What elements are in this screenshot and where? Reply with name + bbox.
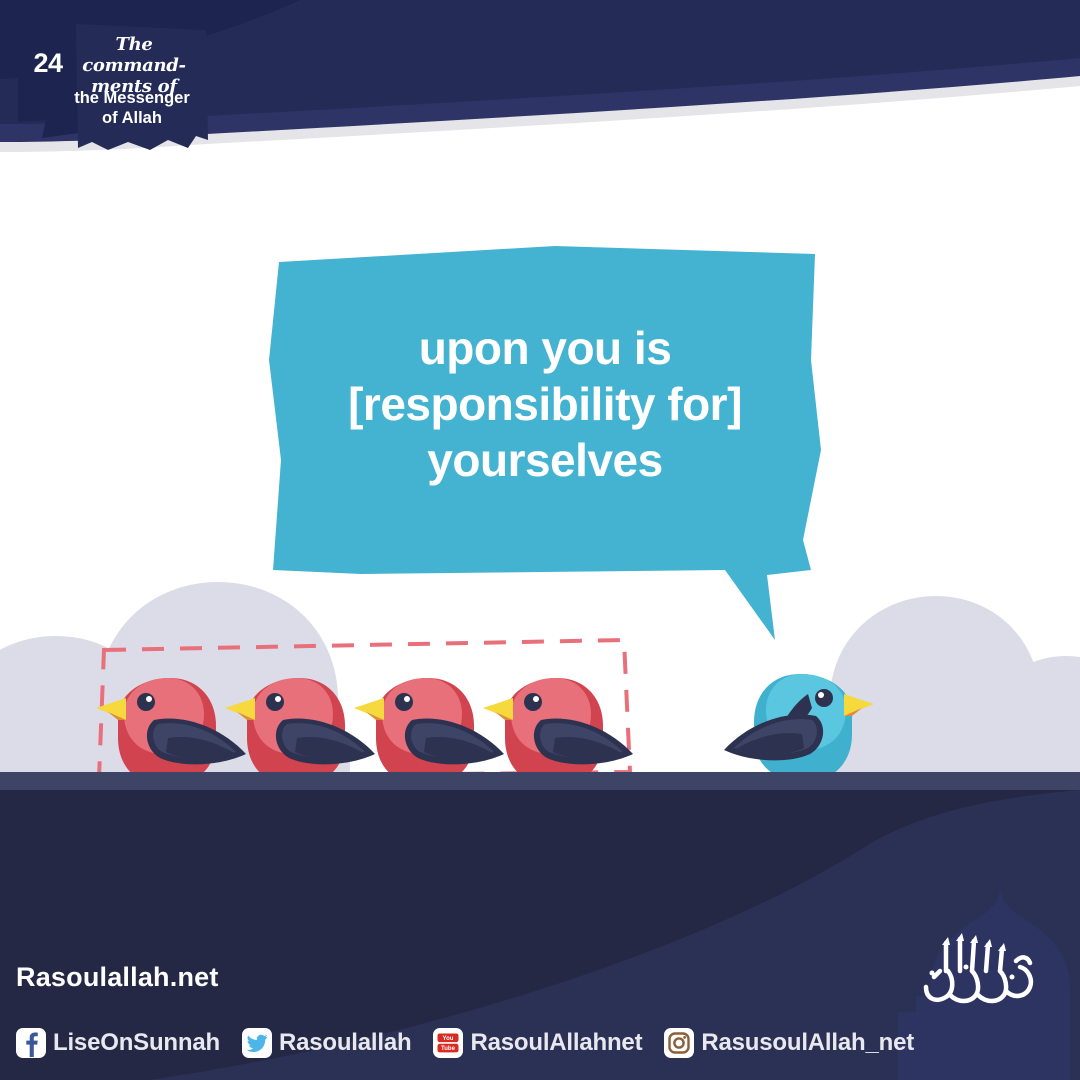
social-handle-facebook: LiseOnSunnah: [53, 1029, 220, 1057]
red-bird-4[interactable]: [483, 678, 633, 780]
social-handle-instagram: RasusoulAllah_net: [701, 1029, 914, 1057]
social-link-youtube[interactable]: You Tube RasoulAllahnet: [433, 1028, 642, 1058]
social-handle-twitter: Rasoulallah: [279, 1029, 412, 1057]
svg-text:Tube: Tube: [442, 1046, 457, 1052]
series-ribbon-badge: 24 The command- ments of the Messenger o…: [0, 0, 260, 175]
social-handle-youtube: RasoulAllahnet: [470, 1029, 642, 1057]
speech-bubble-text: upon you is [responsibility for] yoursel…: [290, 320, 800, 488]
social-link-instagram[interactable]: RasusoulAllah_net: [664, 1028, 914, 1058]
youtube-icon[interactable]: You Tube: [433, 1028, 463, 1058]
ground-strip-light: [0, 772, 1080, 790]
instagram-icon[interactable]: [664, 1028, 694, 1058]
twitter-icon[interactable]: [242, 1028, 272, 1058]
svg-text:You: You: [443, 1036, 454, 1042]
social-link-twitter[interactable]: Rasoulallah: [242, 1028, 412, 1058]
arabic-calligraphy-rasoulallah: [912, 925, 1042, 1015]
site-name[interactable]: Rasoulallah.net: [16, 962, 219, 993]
ribbon-number: 24: [28, 50, 68, 77]
poster-canvas: 24 The command- ments of the Messenger o…: [0, 0, 1080, 1080]
ribbon-sub-line: the Messenger of Allah: [56, 88, 208, 128]
facebook-icon[interactable]: [16, 1028, 46, 1058]
social-link-facebook[interactable]: LiseOnSunnah: [16, 1028, 220, 1058]
social-links-row: LiseOnSunnah Rasoulallah You Tube Rasoul…: [16, 1028, 914, 1058]
red-bird-3[interactable]: [354, 678, 504, 780]
